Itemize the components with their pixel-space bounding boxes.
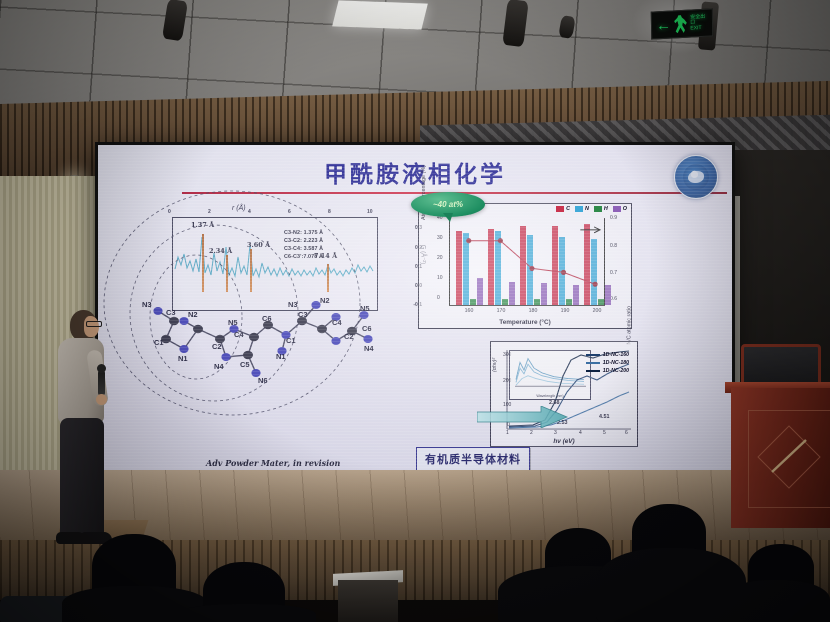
- atom-label: N2: [188, 310, 198, 319]
- callout-bubble: ~40 at%: [411, 192, 485, 217]
- atom-label: N5: [360, 304, 370, 313]
- legend-line-160: [586, 354, 600, 356]
- atom-label: N6: [258, 376, 268, 385]
- legend-item: O: [613, 206, 627, 212]
- tauc-xtick: 6: [625, 430, 628, 436]
- atom-label: C5: [240, 360, 250, 369]
- bar-xtick: 180: [529, 308, 538, 314]
- emphasis-arrow-icon: [477, 406, 569, 428]
- bandgap-label: 4.51: [599, 414, 610, 420]
- podium-diamond-trim: [756, 424, 822, 490]
- tauc-xtick: 1: [506, 430, 509, 436]
- atom-label: C3: [298, 310, 308, 319]
- bar-ytick-right: 0.8: [610, 243, 617, 249]
- bar-ytick: 30: [437, 235, 443, 241]
- bar-xtick: 160: [465, 308, 474, 314]
- atom-label: C4: [332, 318, 342, 327]
- audience-shoulders: [176, 604, 316, 622]
- legend-label: H: [604, 206, 608, 212]
- atom-label: C3: [166, 308, 176, 317]
- pdf-xtick: 2: [208, 209, 211, 215]
- university-logo-icon: [674, 155, 718, 199]
- highlight-callout-box: 有机质半导体材料: [416, 447, 530, 471]
- pdf-xtick: 10: [367, 209, 373, 215]
- molecular-structure-diagram: N3 C3 N2 C1 N1 C2 C4 N4 C5 N6 C6 N5 C1 N…: [136, 277, 406, 407]
- bar-xtick: 200: [593, 308, 602, 314]
- atom-label: C1: [286, 336, 296, 345]
- journal-citation: Adv Powder Mater, in revision: [206, 458, 340, 468]
- legend-label: 1D-NC-180: [603, 360, 629, 366]
- bar-xtick: 170: [497, 308, 506, 314]
- pdf-axis-title: r (Å): [232, 205, 246, 212]
- legend-label: N: [585, 206, 589, 212]
- legend-swatch-n: [575, 206, 583, 212]
- atomic-percentage-bar-chart: ~40 at% C N H O Atomic percentage (%) N/…: [418, 203, 632, 329]
- pdf-molecule-panel: r (Å) 0 2 4 6 8 10 0.3 0.2 0.1 0.0 -0.1 …: [136, 207, 406, 407]
- tauc-xtick: 2: [530, 430, 533, 436]
- bar-ytick: 0: [437, 295, 440, 301]
- legend-item: N: [575, 206, 589, 212]
- bar-ytick-right: 0.9: [610, 215, 617, 221]
- atom-label: N2: [320, 296, 330, 305]
- tauc-plot-panel: (αhν)² 300 200 100 0 1D-NC-160 1D-NC-180…: [490, 341, 638, 447]
- atom-label: C6: [362, 324, 372, 333]
- atom-label: C6: [262, 314, 272, 323]
- logo-emblem: [683, 164, 709, 190]
- legend-item: C: [556, 206, 570, 212]
- atom-label: N4: [364, 344, 374, 353]
- running-man-icon: [674, 15, 688, 34]
- peak-label: 2.34 Å: [209, 247, 232, 255]
- legend-item: 1D-NC-180: [586, 360, 629, 366]
- presenter-glasses: [86, 321, 102, 327]
- atom-label: N5: [228, 318, 238, 327]
- tauc-legend: 1D-NC-160 1D-NC-180 1D-NC-200: [586, 352, 629, 376]
- legend-item: H: [594, 206, 608, 212]
- legend-item: 1D-NC-160: [586, 352, 629, 358]
- tauc-xlabel: hν (eV): [491, 438, 637, 445]
- atom-label: C2: [344, 332, 354, 341]
- presenter: [40, 310, 130, 560]
- pdf-xtick: 6: [288, 209, 291, 215]
- legend-label: O: [623, 206, 627, 212]
- tauc-ylabel: (αhν)²: [492, 358, 498, 372]
- atom-label: C2: [212, 342, 222, 351]
- presenter-trousers: [60, 418, 104, 536]
- pdf-xtick: 4: [248, 209, 251, 215]
- atom-label: N3: [142, 300, 152, 309]
- atom-label: N3: [288, 300, 298, 309]
- bar-chart-legend: C N H O: [556, 206, 627, 212]
- bar-xtick: 190: [561, 308, 570, 314]
- presenter-hand: [96, 394, 107, 405]
- callout-text: ~40 at%: [433, 200, 463, 209]
- projection-screen: 甲酰胺液相化学 r (Å) 0 2 4 6 8 10 0.3 0.2 0.1 0…: [95, 142, 735, 480]
- left-arrow-icon: ←: [656, 17, 671, 33]
- lectern: [338, 580, 398, 622]
- pdf-xtick: 8: [328, 209, 331, 215]
- conference-hall-photo: ← 安全出口 EXIT 甲酰胺液相化学 r (Å) 0 2 4: [0, 0, 830, 622]
- exit-label-en: EXIT: [690, 25, 701, 32]
- bar-ytick: 20: [437, 255, 443, 261]
- tauc-xtick: 3: [554, 430, 557, 436]
- bar-chart-xlabel: Temperature (°C): [419, 319, 631, 326]
- slide-title: 甲酰胺液相化学: [98, 155, 732, 189]
- bar-o: [605, 285, 611, 305]
- emergency-exit-sign: ← 安全出口 EXIT: [651, 8, 713, 39]
- atom-label: N1: [178, 354, 188, 363]
- legend-label: 1D-NC-200: [603, 368, 629, 374]
- legend-label: C: [566, 206, 570, 212]
- legend-label: 1D-NC-160: [603, 352, 629, 358]
- tauc-xtick: 4: [579, 430, 582, 436]
- bar-ytick-right: 0.7: [610, 270, 617, 276]
- atom-label: N1: [276, 352, 286, 361]
- peak-label: 3.60 Å: [247, 241, 270, 249]
- pdf-xtick: 0: [168, 209, 171, 215]
- legend-swatch-o: [613, 206, 621, 212]
- presentation-slide: 甲酰胺液相化学 r (Å) 0 2 4 6 8 10 0.3 0.2 0.1 0…: [98, 145, 732, 477]
- audience-shoulders: [722, 580, 830, 622]
- legend-line-180: [586, 362, 600, 364]
- legend-item: 1D-NC-200: [586, 368, 629, 374]
- tauc-xtick: 5: [603, 430, 606, 436]
- legend-swatch-c: [556, 206, 564, 212]
- legend-line-200: [586, 370, 600, 372]
- exit-sign-label: 安全出口 EXIT: [690, 15, 708, 32]
- microphone: [98, 370, 105, 396]
- bar-ytick: 10: [437, 275, 443, 281]
- ratio-line-series: [450, 218, 604, 305]
- atom-label: N4: [214, 362, 224, 371]
- bar-ytick-right: 0.6: [610, 296, 617, 302]
- legend-swatch-h: [594, 206, 602, 212]
- bar-chart-plot-area: 40 30 20 10 0 0.9 0.8 0.7 0.6: [449, 218, 605, 306]
- skylight-panel: [332, 0, 428, 29]
- peak-label: 7.14 Å: [314, 252, 337, 260]
